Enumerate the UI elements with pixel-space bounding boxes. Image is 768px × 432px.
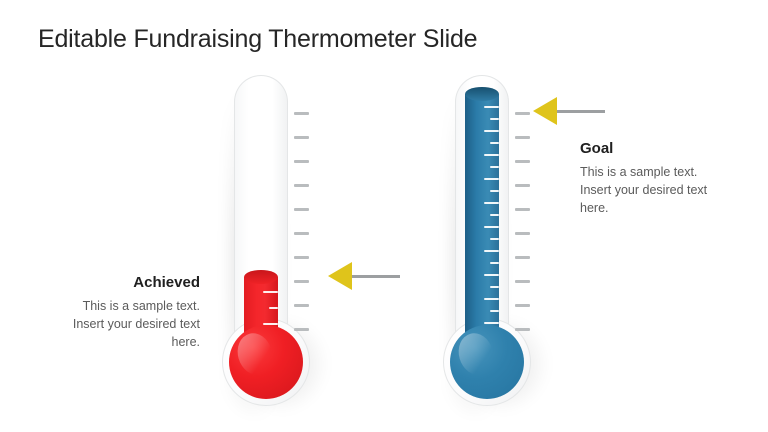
callout-arrow-goal[interactable] [533, 96, 605, 126]
thermometer-fill-goal [465, 87, 499, 350]
fill-cap [244, 270, 278, 284]
arrow-head-left-icon [328, 262, 352, 290]
callout-heading-goal: Goal [580, 140, 732, 157]
thermometer-bulb-achieved [229, 325, 303, 399]
slide-canvas: Editable Fundraising Thermometer Slide [0, 0, 768, 432]
callout-heading-achieved: Achieved [48, 274, 200, 291]
bulb-highlight [454, 329, 498, 379]
callout-body-achieved: This is a sample text. Insert your desir… [48, 298, 200, 351]
callout-body-goal: This is a sample text. Insert your desir… [580, 164, 732, 217]
thermometer-bulb-goal [450, 325, 524, 399]
callout-text-achieved: Achieved This is a sample text. Insert y… [48, 274, 200, 351]
bulb-highlight [233, 329, 277, 379]
callout-text-goal: Goal This is a sample text. Insert your … [580, 140, 732, 217]
arrow-tail [350, 275, 400, 278]
fill-body [465, 94, 499, 350]
callout-arrow-achieved[interactable] [328, 261, 400, 291]
arrow-tail [555, 110, 605, 113]
thermometer-achieved[interactable] [222, 70, 342, 410]
fill-cap [465, 87, 499, 101]
inner-tick-marks [483, 94, 499, 350]
page-title: Editable Fundraising Thermometer Slide [38, 25, 477, 54]
scale-ticks-achieved [294, 70, 320, 360]
arrow-head-left-icon [533, 97, 557, 125]
